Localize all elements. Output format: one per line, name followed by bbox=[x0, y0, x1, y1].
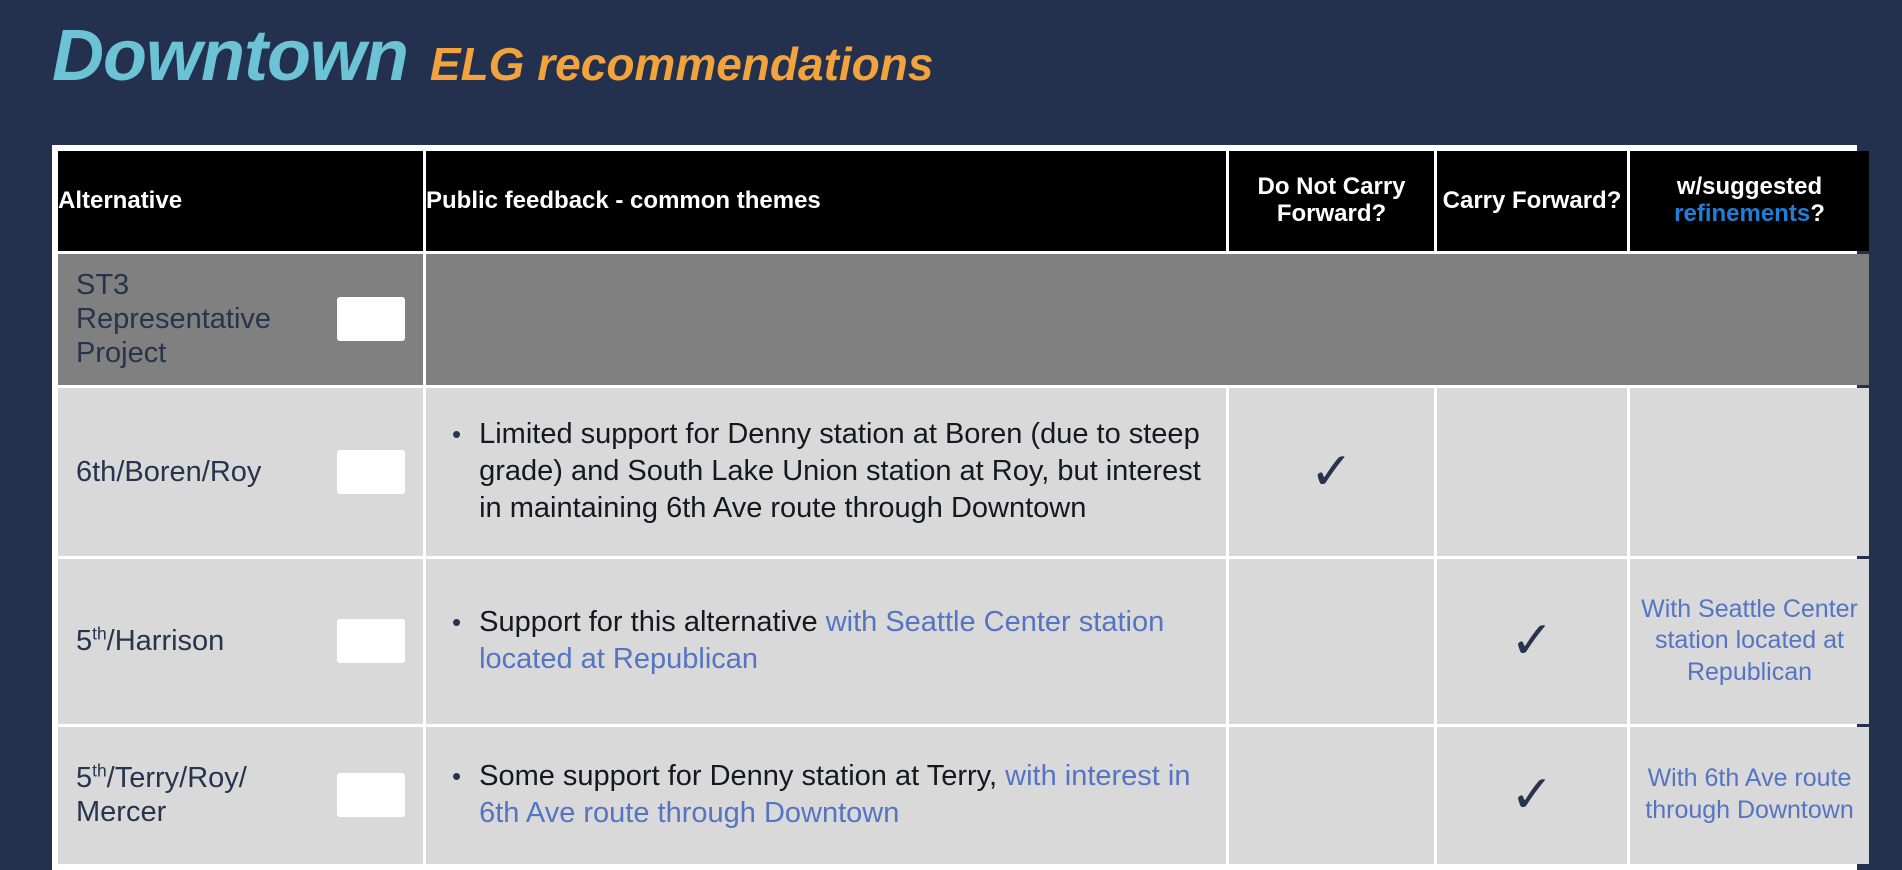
title-subtitle: ELG recommendations bbox=[430, 41, 934, 87]
cell-alternative: 5th/Terry/Roy/ Mercer bbox=[58, 727, 423, 864]
bullet-icon: • bbox=[452, 604, 461, 640]
checkmark-icon: ✓ bbox=[1310, 446, 1354, 498]
header-public-feedback: Public feedback - common themes bbox=[426, 151, 1226, 251]
alternative-ordinal-suffix: th bbox=[92, 760, 107, 780]
cell-refinement bbox=[1630, 388, 1869, 556]
header-do-not-carry-forward: Do Not Carry Forward? bbox=[1229, 151, 1434, 251]
alternative-label: 5th/Harrison bbox=[76, 624, 224, 658]
table-header: Alternative Public feedback - common the… bbox=[58, 151, 1869, 251]
title-main: Downtown bbox=[52, 20, 408, 92]
recommendations-table-wrapper: Alternative Public feedback - common the… bbox=[52, 145, 1857, 870]
cell-public-feedback: • Limited support for Denny station at B… bbox=[426, 388, 1226, 556]
feedback-text: Limited support for Denny station at Bor… bbox=[479, 416, 1204, 527]
cell-alternative: 5th/Harrison bbox=[58, 559, 423, 724]
table-body: ST3 Representative Project 6th/Boren/Roy bbox=[58, 254, 1869, 864]
alternative-label: 6th/Boren/Roy bbox=[76, 455, 261, 489]
table-row: 5th/Terry/Roy/ Mercer • Some support for… bbox=[58, 727, 1869, 864]
feedback-plain: Limited support for Denny station at Bor… bbox=[479, 418, 1201, 524]
cell-alternative: 6th/Boren/Roy bbox=[58, 388, 423, 556]
alternative-ordinal-suffix: th bbox=[92, 623, 107, 643]
cell-do-not-carry-forward: ✓ bbox=[1229, 388, 1434, 556]
header-carry-forward: Carry Forward? bbox=[1437, 151, 1627, 251]
cell-refinement: With Seattle Center station located at R… bbox=[1630, 559, 1869, 724]
feedback-plain: Support for this alternative bbox=[479, 606, 826, 638]
bullet-icon: • bbox=[452, 416, 461, 452]
alternative-label: 5th/Terry/Roy/ Mercer bbox=[76, 761, 327, 829]
cell-carry-forward: ✓ bbox=[1437, 559, 1627, 724]
recommendations-table: Alternative Public feedback - common the… bbox=[55, 148, 1872, 867]
alternative-rest: /Harrison bbox=[107, 625, 225, 657]
checkmark-icon: ✓ bbox=[1510, 615, 1554, 667]
alternative-prefix: 5 bbox=[76, 762, 92, 794]
cell-do-not-carry-forward bbox=[1229, 727, 1434, 864]
cell-refinement: With 6th Ave route through Downtown bbox=[1630, 727, 1869, 864]
slide-title: Downtown ELG recommendations bbox=[52, 20, 933, 92]
alternative-label: ST3 Representative Project bbox=[76, 268, 327, 371]
header-alternative: Alternative bbox=[58, 151, 423, 251]
color-swatch bbox=[337, 619, 405, 663]
color-swatch bbox=[337, 773, 405, 817]
color-swatch bbox=[337, 297, 405, 341]
bullet-icon: • bbox=[452, 758, 461, 794]
header-refinements-suffix: ? bbox=[1810, 200, 1825, 227]
cell-alternative: ST3 Representative Project bbox=[58, 254, 423, 385]
cell-public-feedback: • Some support for Denny station at Terr… bbox=[426, 727, 1226, 864]
table-row: 6th/Boren/Roy • Limited support for Denn… bbox=[58, 388, 1869, 556]
cell-do-not-carry-forward bbox=[1229, 559, 1434, 724]
slide: Downtown ELG recommendations Alternative… bbox=[0, 0, 1902, 860]
feedback-plain: Some support for Denny station at Terry, bbox=[479, 760, 1005, 792]
alternative-prefix: 5 bbox=[76, 625, 92, 657]
table-row: 5th/Harrison • Support for this alternat… bbox=[58, 559, 1869, 724]
header-suggested-refinements: w/suggested refinements? bbox=[1630, 151, 1869, 251]
cell-carry-forward bbox=[1437, 388, 1627, 556]
header-row: Alternative Public feedback - common the… bbox=[58, 151, 1869, 251]
feedback-text: Support for this alternative with Seattl… bbox=[479, 604, 1204, 678]
color-swatch bbox=[337, 450, 405, 494]
checkmark-icon: ✓ bbox=[1510, 769, 1554, 821]
header-refinements-highlight: refinements bbox=[1674, 200, 1810, 227]
cell-carry-forward: ✓ bbox=[1437, 727, 1627, 864]
feedback-text: Some support for Denny station at Terry,… bbox=[479, 758, 1204, 832]
cell-merged-empty bbox=[426, 254, 1869, 385]
cell-public-feedback: • Support for this alternative with Seat… bbox=[426, 559, 1226, 724]
table-row: ST3 Representative Project bbox=[58, 254, 1869, 385]
header-refinements-prefix: w/suggested bbox=[1677, 173, 1822, 200]
